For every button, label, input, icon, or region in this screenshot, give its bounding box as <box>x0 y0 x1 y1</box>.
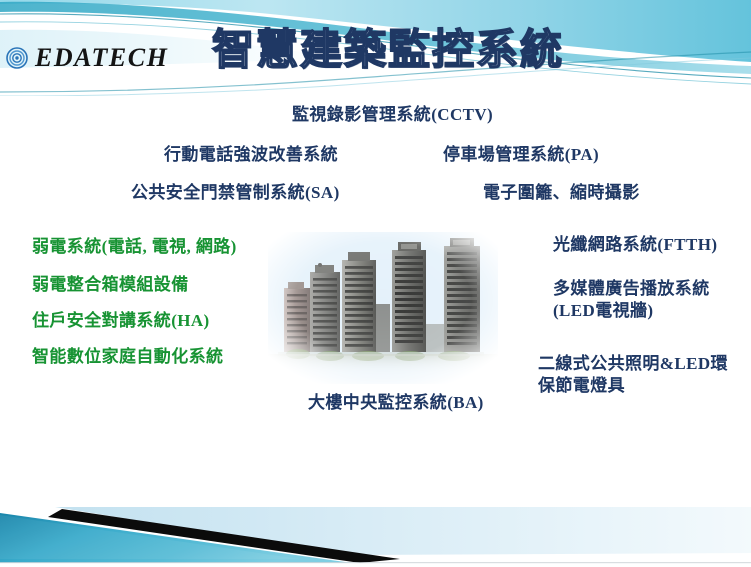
system-label-weak-current: 弱電系統(電話, 電視, 網路) <box>32 236 237 258</box>
footer-banner-decoration <box>0 507 751 567</box>
system-label-parking: 停車場管理系統(PA) <box>443 144 599 166</box>
page-title: 智慧建築監控系統 <box>212 28 564 72</box>
high-rise-apartment-buildings-photo <box>268 232 498 384</box>
system-label-multimedia-led-wall: 多媒體廣告播放系統 (LED電視牆) <box>553 278 710 323</box>
concentric-circles-icon <box>6 47 28 69</box>
brand-logo: EDATECH <box>6 45 168 71</box>
system-label-mobile-signal: 行動電話強波改善系統 <box>164 144 338 166</box>
system-label-ftth: 光纖網路系統(FTTH) <box>553 234 717 256</box>
system-label-home-intercom: 住戶安全對講系統(HA) <box>32 310 210 332</box>
system-label-electronic-fence: 電子圍籬、縮時攝影 <box>483 182 640 204</box>
system-label-access-control: 公共安全門禁管制系統(SA) <box>131 182 340 204</box>
brand-name: EDATECH <box>35 45 168 71</box>
system-label-public-lighting: 二線式公共照明&LED環 保節電燈具 <box>538 353 728 398</box>
system-label-integration-box: 弱電整合箱模組設備 <box>32 274 189 296</box>
system-label-building-automation: 大樓中央監控系統(BA) <box>308 392 484 414</box>
system-label-home-automation: 智能數位家庭自動化系統 <box>32 346 223 368</box>
slide-canvas: EDATECH 智慧建築監控系統 <box>0 0 751 567</box>
system-label-cctv: 監視錄影管理系統(CCTV) <box>292 104 493 126</box>
